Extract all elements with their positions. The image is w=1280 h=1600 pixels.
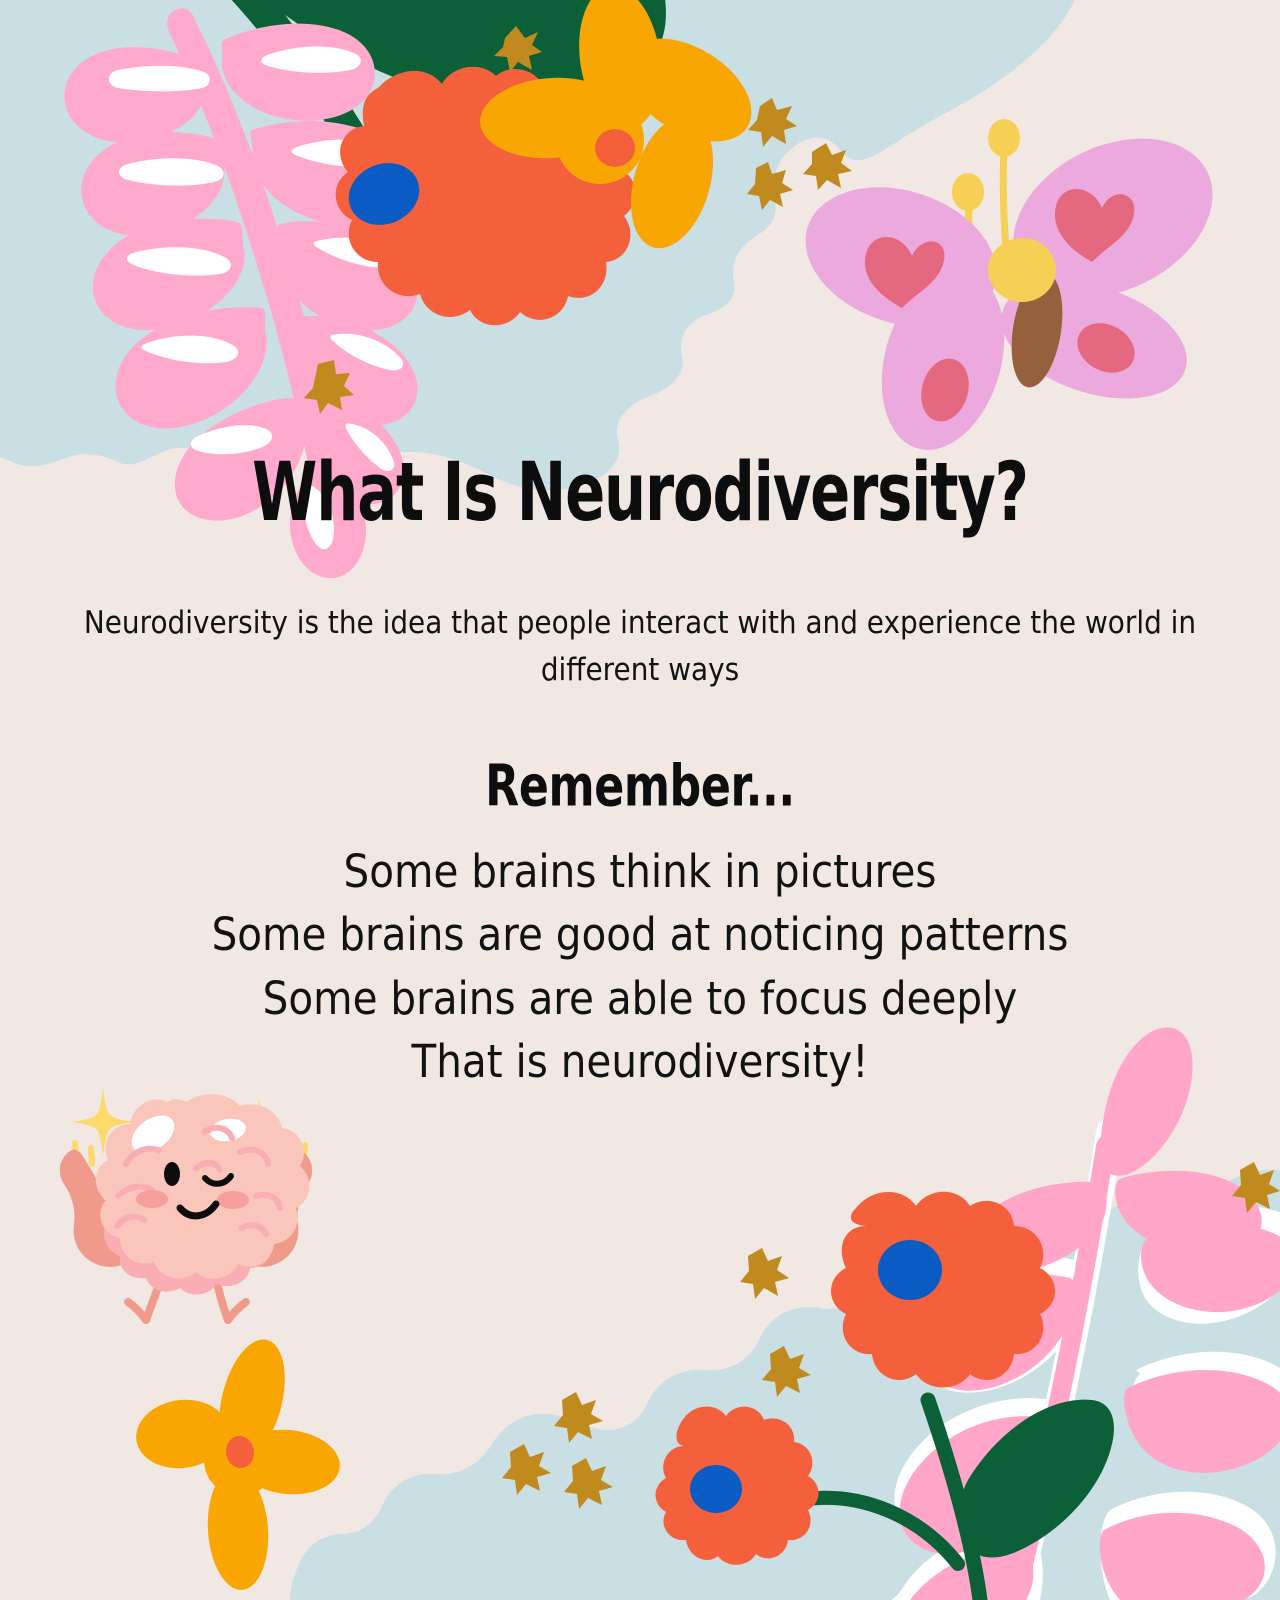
flower-center [690, 1465, 742, 1513]
brain-eye [164, 1162, 180, 1186]
flower-center [595, 129, 635, 167]
decoration-layer [0, 0, 1280, 1600]
antenna-tip [988, 119, 1020, 157]
antenna-tip [952, 173, 984, 211]
flower-center [878, 1240, 942, 1300]
poster-canvas: What Is Neurodiversity? Neurodiversity i… [0, 0, 1280, 1600]
brain-cheek [136, 1190, 168, 1208]
butterfly-head [988, 238, 1056, 302]
brain-cheek [217, 1191, 249, 1209]
